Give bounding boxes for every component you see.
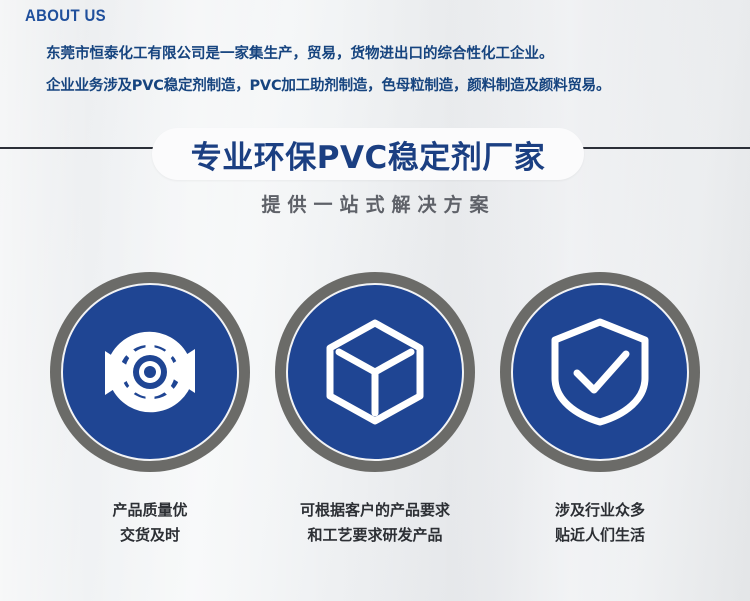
cube-box-icon bbox=[319, 316, 431, 428]
page-title: ABOUT US bbox=[25, 6, 106, 26]
feature-icon-disc bbox=[511, 283, 689, 461]
feature-item-industries: 涉及行业众多 贴近人们生活 bbox=[500, 272, 700, 548]
feature-caption: 可根据客户的产品要求 和工艺要求研发产品 bbox=[275, 498, 475, 548]
banner-title: 专业环保PVC稳定剂厂家 bbox=[152, 128, 584, 180]
banner-subtitle: 提供一站式解决方案 bbox=[0, 190, 750, 217]
intro-line-2: 企业业务涉及PVC稳定剂制造，PVC加工助剂制造，色母粒制造，颜料制造及颜料贸易… bbox=[46, 70, 726, 102]
feature-icon-ring bbox=[500, 272, 700, 472]
intro-line-1: 东莞市恒泰化工有限公司是一家集生产，贸易，货物进出口的综合性化工企业。 bbox=[46, 38, 726, 70]
feature-caption-line-1: 产品质量优 bbox=[50, 498, 250, 523]
feature-item-quality: 产品质量优 交货及时 bbox=[50, 272, 250, 548]
feature-icon-ring bbox=[50, 272, 250, 472]
gear-recycle-icon bbox=[91, 313, 209, 431]
feature-caption-line-1: 可根据客户的产品要求 bbox=[275, 498, 475, 523]
feature-icon-disc bbox=[286, 283, 464, 461]
feature-caption: 涉及行业众多 贴近人们生活 bbox=[500, 498, 700, 548]
feature-icon-ring bbox=[275, 272, 475, 472]
shield-check-icon bbox=[544, 316, 656, 428]
feature-item-custom-rnd: 可根据客户的产品要求 和工艺要求研发产品 bbox=[275, 272, 475, 548]
intro-paragraph: 东莞市恒泰化工有限公司是一家集生产，贸易，货物进出口的综合性化工企业。 企业业务… bbox=[46, 38, 726, 102]
feature-icon-disc bbox=[61, 283, 239, 461]
about-us-page: ABOUT US 东莞市恒泰化工有限公司是一家集生产，贸易，货物进出口的综合性化… bbox=[0, 0, 750, 601]
headline-banner: 专业环保PVC稳定剂厂家 bbox=[0, 112, 750, 192]
feature-caption: 产品质量优 交货及时 bbox=[50, 498, 250, 548]
feature-caption-line-1: 涉及行业众多 bbox=[500, 498, 700, 523]
feature-caption-line-2: 交货及时 bbox=[50, 523, 250, 548]
feature-caption-line-2: 贴近人们生活 bbox=[500, 523, 700, 548]
feature-caption-line-2: 和工艺要求研发产品 bbox=[275, 523, 475, 548]
